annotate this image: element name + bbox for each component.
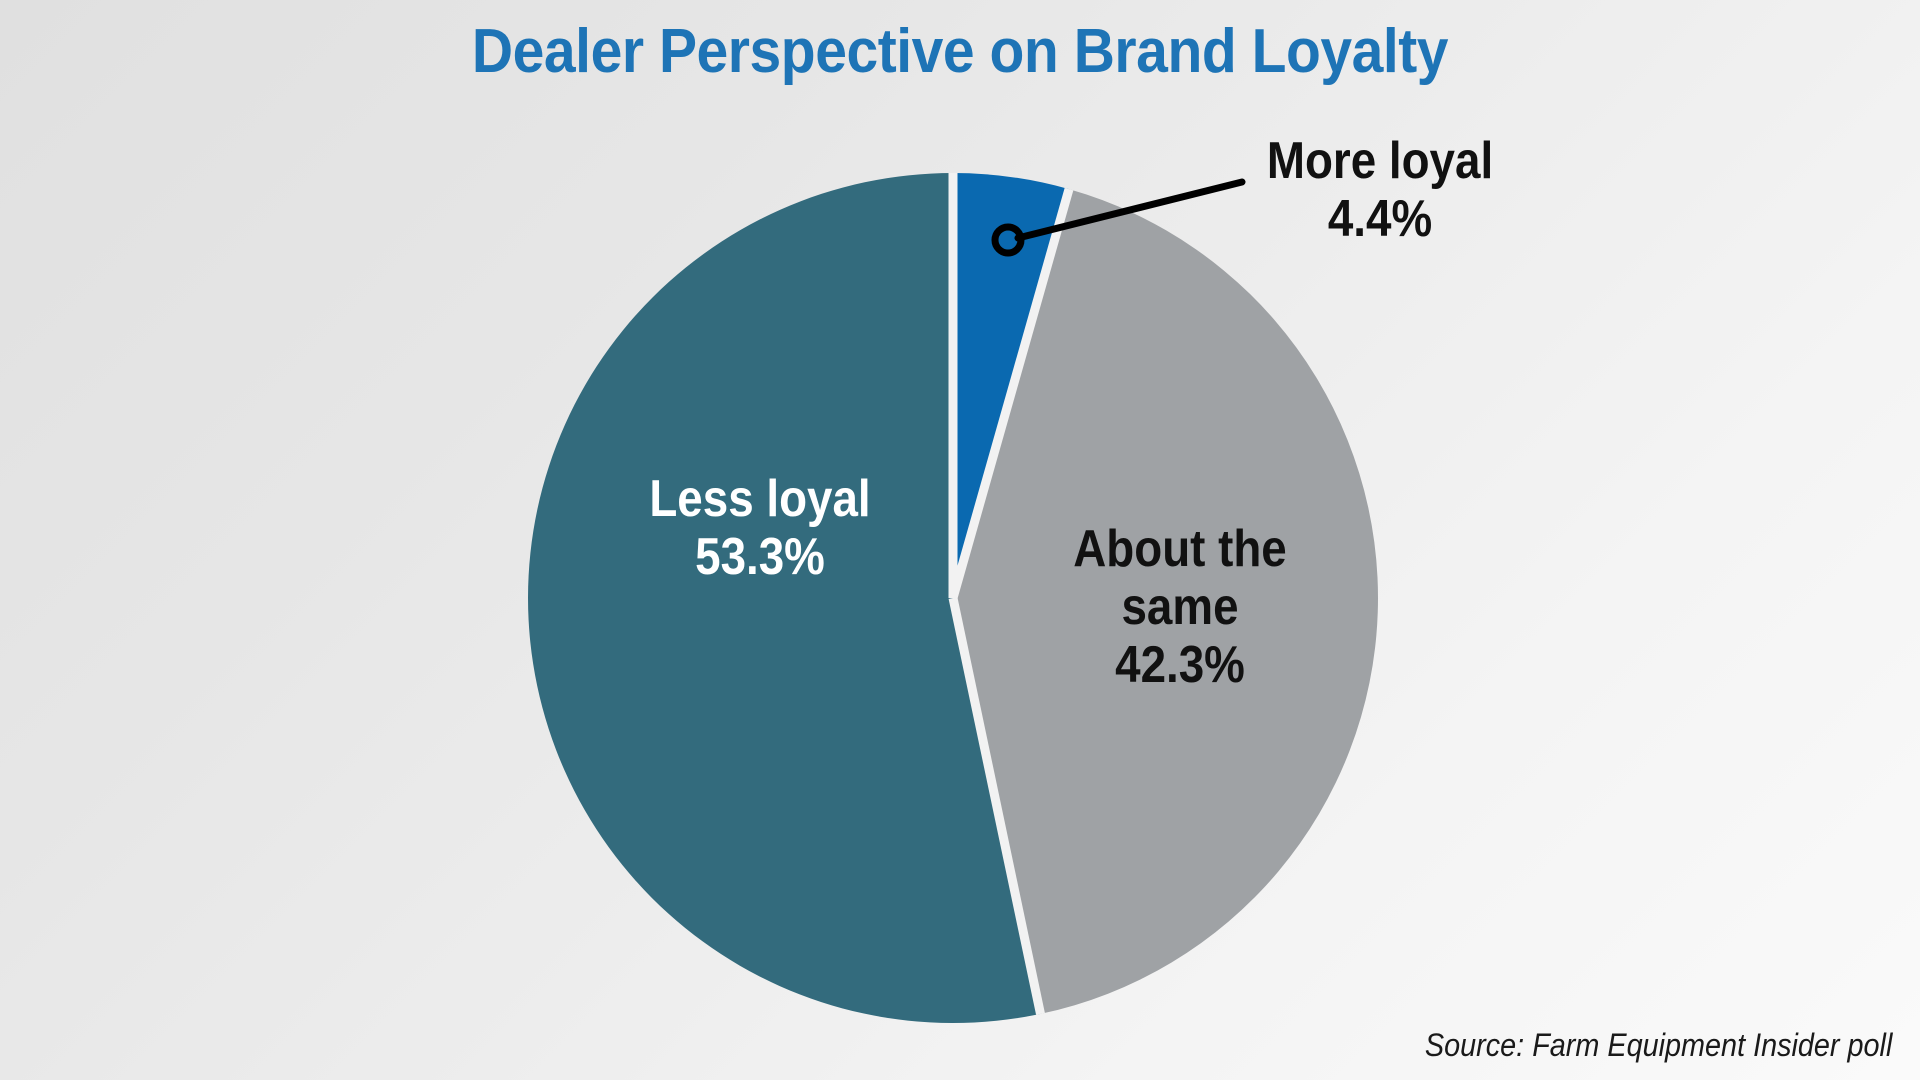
slice-label-about-the-same-line1: About the xyxy=(1030,520,1329,578)
pie-chart: Less loyal 53.3% About the same 42.3% Mo… xyxy=(0,0,1920,1080)
slice-label-about-the-same: About the same 42.3% xyxy=(1030,520,1329,695)
slice-label-more-loyal-name: More loyal xyxy=(1213,132,1547,190)
slice-label-more-loyal-percent: 4.4% xyxy=(1213,190,1547,248)
slice-label-more-loyal: More loyal 4.4% xyxy=(1213,132,1547,248)
chart-canvas: Dealer Perspective on Brand Loyalty xyxy=(0,0,1920,1080)
slice-label-less-loyal: Less loyal 53.3% xyxy=(619,470,901,586)
source-attribution: Source: Farm Equipment Insider poll xyxy=(1425,1027,1892,1064)
slice-label-less-loyal-name: Less loyal xyxy=(619,470,901,528)
slice-label-about-the-same-line2: same xyxy=(1030,578,1329,636)
pie-chart-svg xyxy=(0,0,1920,1080)
slice-label-less-loyal-percent: 53.3% xyxy=(619,528,901,586)
slice-label-about-the-same-percent: 42.3% xyxy=(1030,636,1329,694)
